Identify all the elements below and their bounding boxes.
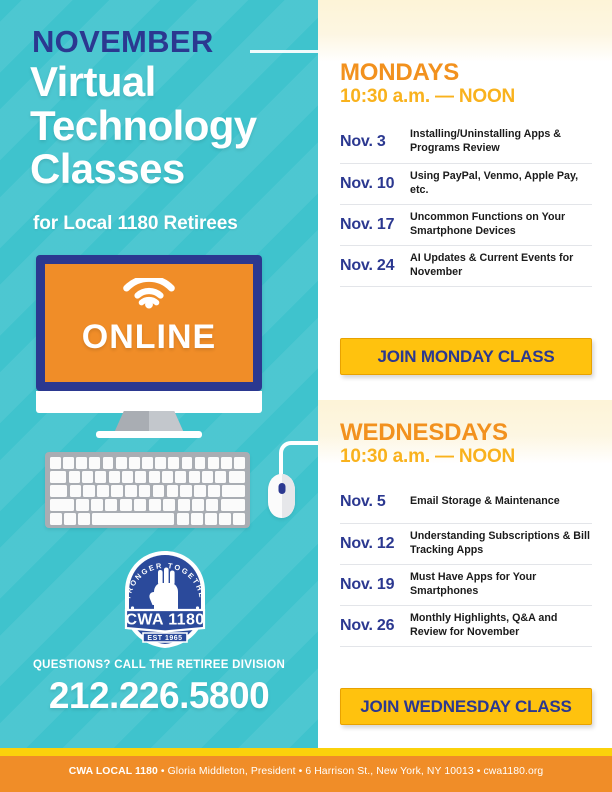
class-description: Monthly Highlights, Q&A and Review for N… (410, 612, 592, 639)
monitor-stand-base (96, 431, 202, 438)
page-title-line-2: Technology (30, 104, 318, 148)
monitor-online-label: ONLINE (45, 318, 253, 357)
logo-banner-text: CWA 1180 (125, 612, 204, 629)
day-time-mondays: 10:30 a.m. — NOON (340, 86, 592, 108)
class-date: Nov. 17 (340, 216, 410, 234)
yellow-accent-band (0, 748, 612, 756)
flyer-page: NOVEMBER Virtual Technology Classes for … (0, 0, 612, 792)
questions-label: QUESTIONS? CALL THE RETIREE DIVISION (0, 659, 318, 671)
class-row: Nov. 3 Installing/Uninstalling Apps & Pr… (340, 123, 592, 164)
class-row: Nov. 19 Must Have Apps for Your Smartpho… (340, 565, 592, 606)
class-row: Nov. 5 Email Storage & Maintenance (340, 483, 592, 524)
page-month-heading: NOVEMBER (32, 26, 214, 57)
join-monday-class-button[interactable]: JOIN MONDAY CLASS (340, 338, 592, 375)
class-date: Nov. 3 (340, 133, 410, 151)
footer-org-name: CWA LOCAL 1180 (69, 766, 158, 777)
day-time-wednesdays: 10:30 a.m. — NOON (340, 446, 592, 468)
logo-est-text: EST 1965 (147, 635, 182, 642)
join-wednesday-class-button[interactable]: JOIN WEDNESDAY CLASS (340, 688, 592, 725)
class-row: Nov. 26 Monthly Highlights, Q&A and Revi… (340, 606, 592, 647)
class-row: Nov. 17 Uncommon Functions on Your Smart… (340, 205, 592, 246)
page-title: Virtual Technology Classes (30, 60, 318, 191)
class-list-mondays: Nov. 3 Installing/Uninstalling Apps & Pr… (340, 123, 592, 287)
schedule-block-mondays: MONDAYS 10:30 a.m. — NOON Nov. 3 Install… (340, 60, 592, 287)
class-list-wednesdays: Nov. 5 Email Storage & Maintenance Nov. … (340, 483, 592, 647)
page-title-line-1: Virtual (30, 60, 318, 104)
class-description: Email Storage & Maintenance (410, 495, 592, 508)
class-date: Nov. 24 (340, 257, 410, 275)
monitor-graphic: ONLINE (36, 255, 262, 391)
class-description: Must Have Apps for Your Smartphones (410, 571, 592, 598)
class-row: Nov. 10 Using PayPal, Venmo, Apple Pay, … (340, 164, 592, 205)
schedule-column: MONDAYS 10:30 a.m. — NOON Nov. 3 Install… (318, 0, 612, 748)
keyboard-graphic (45, 452, 250, 528)
class-row: Nov. 12 Understanding Subscriptions & Bi… (340, 524, 592, 565)
wifi-icon (120, 278, 178, 314)
cwa-logo: STRONGER TOGETHER CWA 1180 EST (113, 548, 217, 652)
monitor-screen: ONLINE (45, 264, 253, 382)
class-description: Using PayPal, Venmo, Apple Pay, etc. (410, 170, 592, 197)
footer-contact-line: CWA LOCAL 1180 • Gloria Middleton, Presi… (0, 766, 612, 777)
phone-number[interactable]: 212.226.5800 (0, 675, 318, 717)
class-date: Nov. 5 (340, 493, 410, 511)
page-subtitle: for Local 1180 Retirees (33, 213, 238, 235)
class-date: Nov. 19 (340, 576, 410, 594)
class-description: Uncommon Functions on Your Smartphone De… (410, 211, 592, 238)
class-date: Nov. 12 (340, 535, 410, 553)
mouse-cable (279, 441, 318, 479)
heading-rule (250, 50, 318, 53)
class-date: Nov. 26 (340, 617, 410, 635)
schedule-block-wednesdays: WEDNESDAYS 10:30 a.m. — NOON Nov. 5 Emai… (340, 420, 592, 647)
class-description: Understanding Subscriptions & Bill Track… (410, 530, 592, 557)
class-description: Installing/Uninstalling Apps & Programs … (410, 128, 592, 155)
class-date: Nov. 10 (340, 175, 410, 193)
day-heading-wednesdays: WEDNESDAYS (340, 420, 592, 445)
left-hero-panel: NOVEMBER Virtual Technology Classes for … (0, 0, 318, 748)
mouse-graphic (268, 474, 295, 518)
page-title-line-3: Classes (30, 147, 318, 191)
day-heading-mondays: MONDAYS (340, 60, 592, 85)
cream-gradient-top (318, 0, 612, 62)
monitor-chin (36, 391, 262, 413)
class-row: Nov. 24 AI Updates & Current Events for … (340, 246, 592, 287)
footer-details: • Gloria Middleton, President • 6 Harris… (158, 766, 543, 777)
mouse-wheel (278, 483, 285, 494)
class-description: AI Updates & Current Events for November (410, 252, 592, 279)
monitor-stand (114, 411, 184, 433)
